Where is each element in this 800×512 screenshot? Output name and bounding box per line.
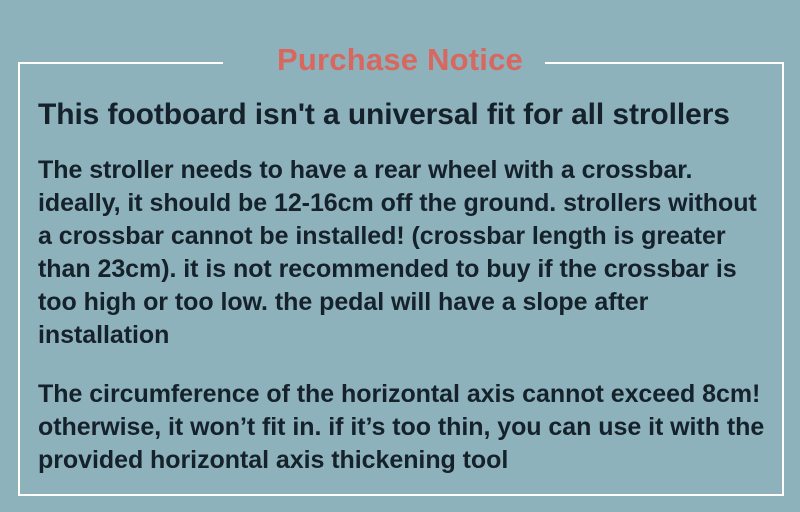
purchase-notice-card: Purchase Notice This footboard isn't a u…: [0, 0, 800, 512]
notice-title: Purchase Notice: [0, 38, 800, 82]
frame-right-rule: [782, 62, 784, 496]
notice-paragraph-2: The circumference of the horizontal axis…: [38, 378, 768, 477]
frame-bottom-rule: [18, 494, 784, 496]
notice-paragraph-1: The stroller needs to have a rear wheel …: [38, 154, 768, 352]
notice-heading: This footboard isn't a universal fit for…: [38, 96, 768, 134]
notice-body: This footboard isn't a universal fit for…: [38, 96, 768, 477]
frame-left-rule: [18, 62, 20, 496]
